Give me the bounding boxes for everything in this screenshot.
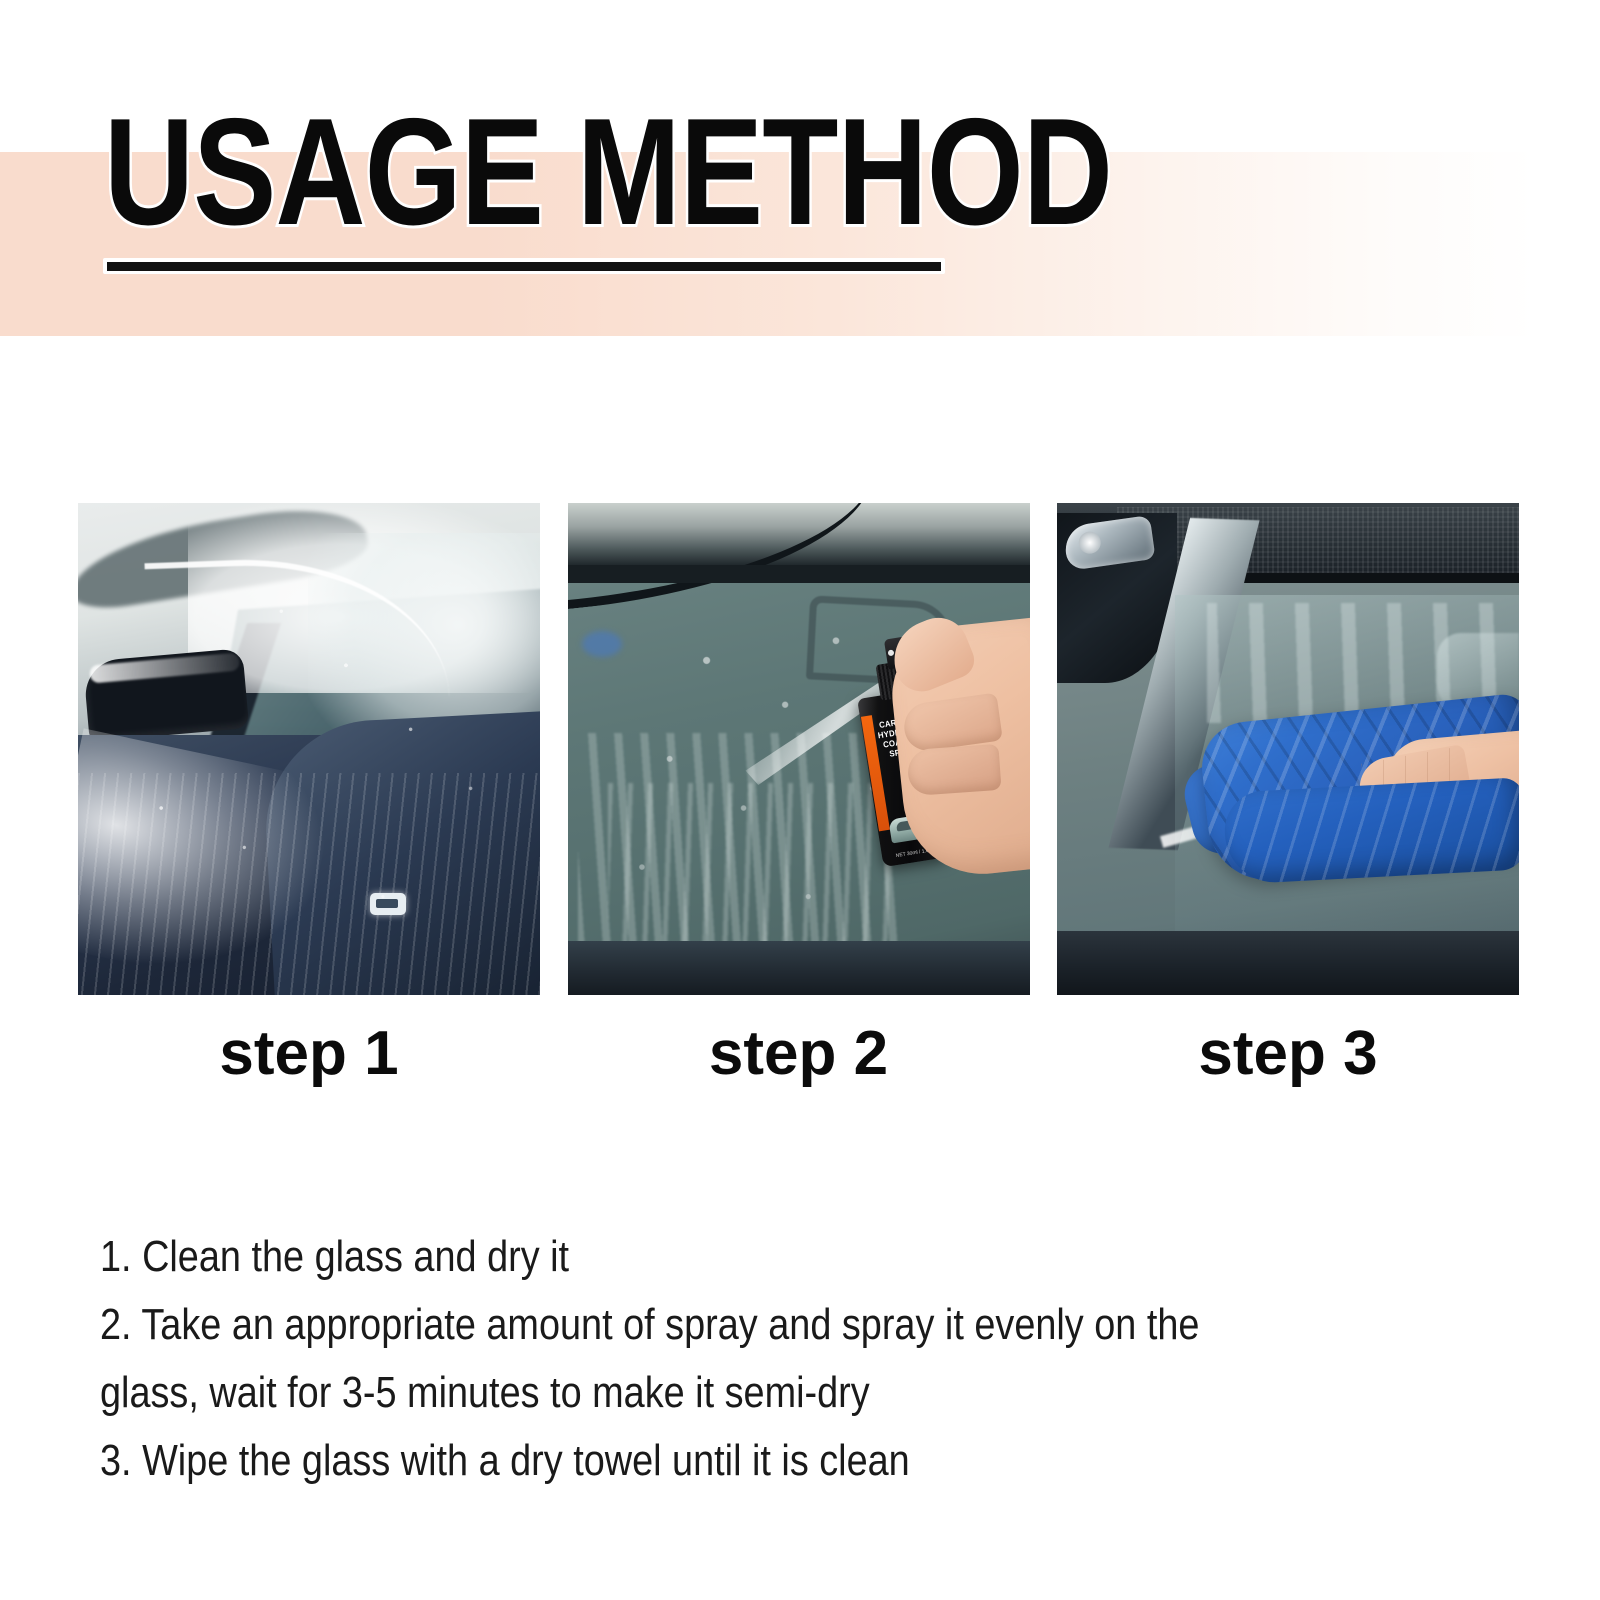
step-item-3: step 3 bbox=[1057, 503, 1519, 1089]
instruction-line-2: 2. Take an appropriate amount of spray a… bbox=[100, 1291, 1304, 1359]
microfiber-towel-front-fold bbox=[1223, 777, 1519, 885]
instruction-line-4: 3. Wipe the glass with a dry towel until… bbox=[100, 1427, 1304, 1495]
page-title: USAGE METHOD bbox=[104, 96, 1112, 248]
step-2-photo: CAR ANTI HYDROPHOBIC COATING SPRAY NET 3… bbox=[568, 503, 1030, 995]
water-droplets bbox=[78, 503, 540, 995]
instruction-line-1: 1. Clean the glass and dry it bbox=[100, 1223, 1304, 1291]
roof-texture bbox=[1117, 507, 1519, 573]
step-gallery: step 1 CAR ANTI HYDROPHOBIC COATING SPRA… bbox=[78, 503, 1519, 1089]
step-3-caption: step 3 bbox=[1057, 1019, 1519, 1089]
step-item-1: step 1 bbox=[78, 503, 540, 1089]
step-item-2: CAR ANTI HYDROPHOBIC COATING SPRAY NET 3… bbox=[568, 503, 1030, 1089]
instruction-line-3: glass, wait for 3-5 minutes to make it s… bbox=[100, 1359, 1304, 1427]
windshield-cowl bbox=[568, 941, 1030, 995]
step-3-photo bbox=[1057, 503, 1519, 995]
lower-cowl-panel bbox=[1057, 931, 1519, 995]
step-2-caption: step 2 bbox=[568, 1019, 1030, 1089]
title-underline-rule bbox=[103, 258, 945, 274]
middle-finger bbox=[906, 744, 1001, 796]
step-1-photo bbox=[78, 503, 540, 995]
step-1-caption: step 1 bbox=[78, 1019, 540, 1089]
instructions-list: 1. Clean the glass and dry it 2. Take an… bbox=[100, 1223, 1304, 1495]
